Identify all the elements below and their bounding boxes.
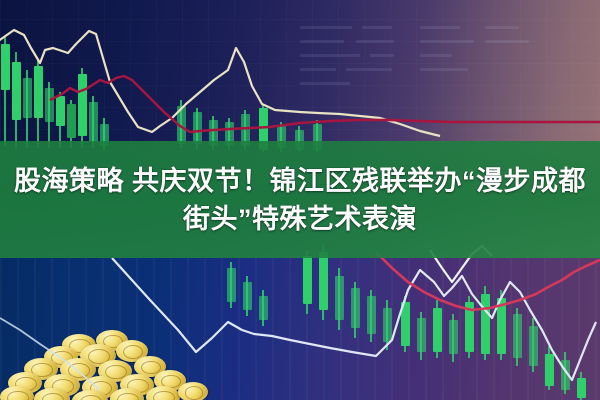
title-line-1: 股海策略 共庆双节！锦江区残联举办“漫步成都 (14, 162, 586, 200)
line-white-left-bottom (0, 318, 100, 390)
title-line-2: 街头”特殊艺术表演 (183, 200, 417, 238)
line-crimson-top (50, 76, 600, 132)
banner-image: 股海策略 共庆双节！锦江区残联举办“漫步成都 街头”特殊艺术表演 (0, 0, 600, 400)
line-red-bottom (376, 252, 600, 310)
line-white-bottom (112, 258, 596, 380)
title-block: 股海策略 共庆双节！锦江区残联举办“漫步成都 街头”特殊艺术表演 (0, 141, 600, 258)
